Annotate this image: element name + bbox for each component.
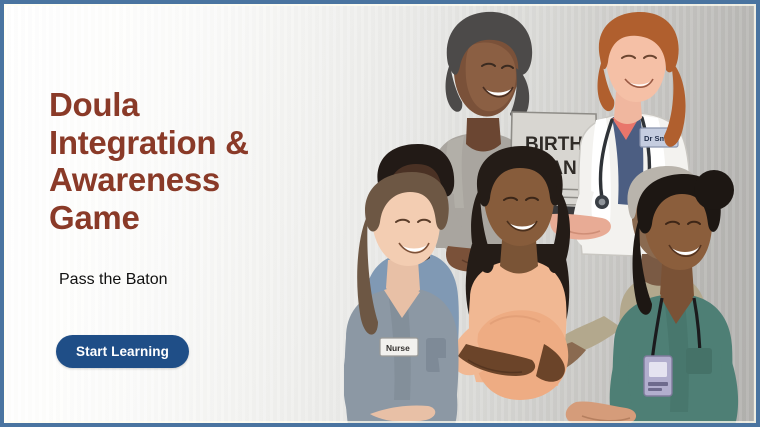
text-panel: Doula Integration & Awareness Game Pass … <box>49 86 349 236</box>
page-subtitle: Pass the Baton <box>59 271 168 289</box>
title-slide: BIRTH PLAN <box>0 0 760 427</box>
illustration-svg: BIRTH PLAN <box>344 8 760 427</box>
nurse-badge-text: Nurse <box>386 343 410 353</box>
hero-illustration: BIRTH PLAN <box>344 8 760 427</box>
page-title: Doula Integration & Awareness Game <box>49 86 349 236</box>
start-learning-button[interactable]: Start Learning <box>56 335 189 368</box>
